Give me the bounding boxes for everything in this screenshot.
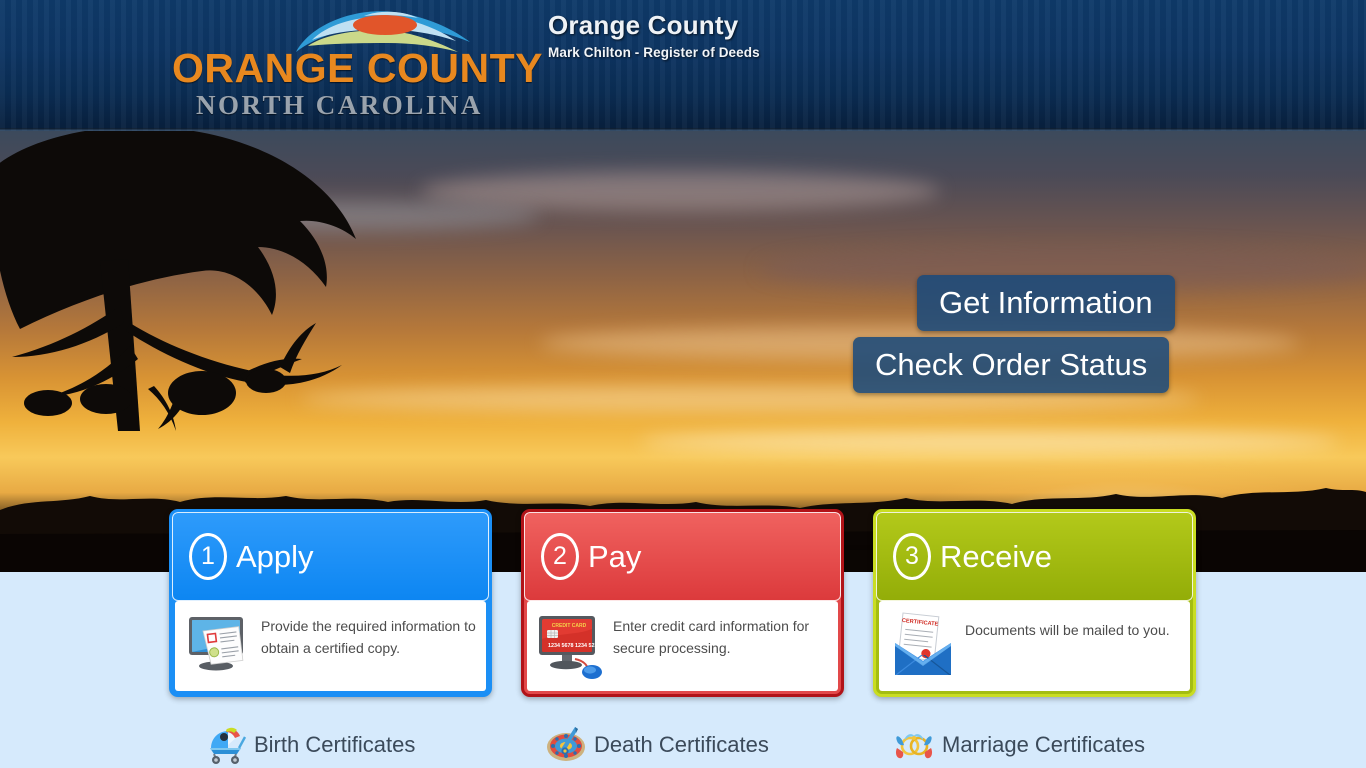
step-description: Provide the required information to obta… — [261, 615, 476, 659]
step-card-pay[interactable]: 2 Pay CREDIT CARD 1234 5678 1234 5234 — [521, 509, 844, 697]
monitor-document-icon — [183, 609, 255, 681]
step-card-apply[interactable]: 1 Apply — [169, 509, 492, 697]
step-description: Documents will be mailed to you. — [965, 619, 1170, 641]
certificate-links-row: Birth Certificates — [0, 722, 1366, 768]
step-card-body: Provide the required information to obta… — [175, 601, 486, 691]
step-card-body: CERTIFICATE D — [879, 601, 1190, 691]
step-description: Enter credit card information for secure… — [613, 615, 828, 659]
link-birth-certificates[interactable]: Birth Certificates — [205, 724, 415, 766]
wedding-rings-doves-icon — [893, 724, 935, 766]
step-number-badge: 2 — [541, 533, 579, 580]
step-number-badge: 3 — [893, 533, 931, 580]
step-title: Receive — [940, 540, 1052, 574]
page-root: ORANGE COUNTY NORTH CAROLINA Orange Coun… — [0, 0, 1366, 768]
link-label: Death Certificates — [594, 732, 769, 758]
logo-wordmark: ORANGE COUNTY — [172, 46, 572, 90]
envelope-certificate-icon: CERTIFICATE — [887, 609, 959, 681]
step-card-header: 1 Apply — [172, 512, 489, 601]
link-death-certificates[interactable]: Death Certificates — [545, 724, 769, 766]
hero-sunset-banner: Get Information Check Order Status Certi… — [0, 131, 1366, 572]
step-title: Apply — [236, 540, 314, 574]
cloud-shape — [640, 431, 1340, 453]
link-marriage-certificates[interactable]: Marriage Certificates — [893, 724, 1145, 766]
logo-state-name: NORTH CAROLINA — [196, 90, 556, 120]
step-card-header: 2 Pay — [524, 512, 841, 601]
step-card-body: CREDIT CARD 1234 5678 1234 5234 Enter cr… — [527, 601, 838, 691]
site-header: ORANGE COUNTY NORTH CAROLINA Orange Coun… — [0, 0, 1366, 131]
link-label: Birth Certificates — [254, 732, 415, 758]
page-title: Orange County — [548, 10, 738, 40]
monitor-creditcard-icon: CREDIT CARD 1234 5678 1234 5234 — [535, 609, 607, 681]
check-order-status-button[interactable]: Check Order Status — [853, 337, 1169, 393]
step-card-receive[interactable]: 3 Receive CERTIFICATE — [873, 509, 1196, 697]
page-subtitle: Mark Chilton - Register of Deeds — [548, 45, 760, 61]
step-title: Pay — [588, 540, 641, 574]
step-card-header: 3 Receive — [876, 512, 1193, 601]
funeral-wreath-icon — [545, 724, 587, 766]
svg-text:CREDIT CARD: CREDIT CARD — [552, 623, 587, 629]
baby-stroller-icon — [205, 724, 247, 766]
svg-text:1234 5678 1234 5234: 1234 5678 1234 5234 — [548, 643, 600, 649]
get-information-button[interactable]: Get Information — [917, 275, 1175, 331]
cloud-shape — [420, 171, 940, 211]
link-label: Marriage Certificates — [942, 732, 1145, 758]
step-number-badge: 1 — [189, 533, 227, 580]
